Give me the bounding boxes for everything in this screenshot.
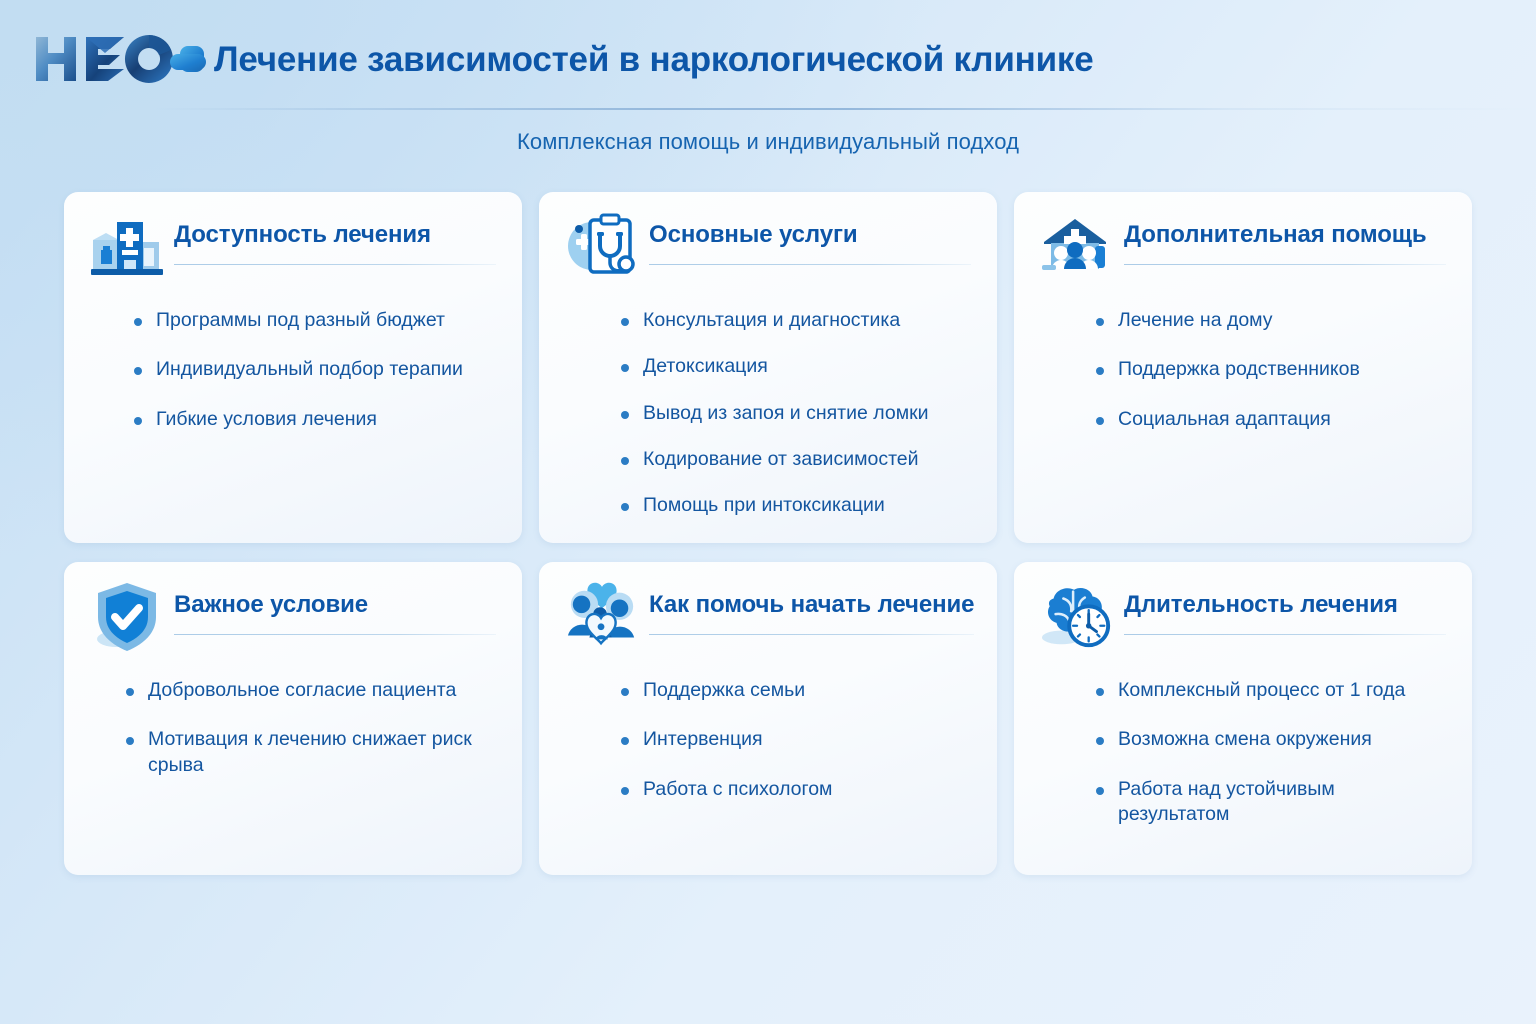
title-underline (174, 264, 496, 265)
list-item: Комплексный процесс от 1 года (1096, 678, 1446, 703)
card-extra-help[interactable]: Дополнительная помощь Лечение на дому По… (1014, 192, 1472, 543)
card-header: Основные услуги (565, 214, 971, 288)
list-item: Гибкие условия лечения (134, 407, 496, 432)
list-item: Консультация и диагностика (621, 308, 971, 333)
list-item: Программы под разный бюджет (134, 308, 496, 333)
card-title: Доступность лечения (174, 222, 496, 248)
card-title: Дополнительная помощь (1124, 222, 1446, 248)
list-item: Добровольное согласие пациента (126, 678, 496, 703)
list-item: Детоксикация (621, 354, 971, 379)
list-item: Интервенция (621, 727, 971, 752)
list-item: Социальная адаптация (1096, 407, 1446, 432)
bullet-list: Лечение на дому Поддержка родственников … (1040, 308, 1446, 432)
title-underline (174, 634, 496, 635)
card-title: Основные услуги (649, 222, 971, 248)
card-header: Важное условие (90, 584, 496, 658)
card-important-condition[interactable]: Важное условие Добровольное согласие пац… (64, 562, 522, 875)
title-underline (649, 634, 974, 635)
cards-grid: Доступность лечения Программы под разный… (64, 192, 1472, 875)
card-header: Дополнительная помощь (1040, 214, 1446, 288)
home-care-icon (1040, 210, 1114, 284)
card-duration[interactable]: Длительность лечения Комплексный процесс… (1014, 562, 1472, 875)
neo-plus-logo (34, 33, 206, 85)
card-how-to-start[interactable]: Как помочь начать лечение Поддержка семь… (539, 562, 997, 875)
list-item: Работа с психологом (621, 777, 971, 802)
page-subtitle: Комплексная помощь и индивидуальный подх… (0, 129, 1536, 155)
list-item: Работа над устойчивым результатом (1096, 777, 1446, 828)
bullet-list: Консультация и диагностика Детоксикация … (565, 308, 971, 519)
card-title: Важное условие (174, 592, 496, 618)
list-item: Помощь при интоксикации (621, 493, 971, 518)
list-item: Вывод из запоя и снятие ломки (621, 401, 971, 426)
cards-row-1: Доступность лечения Программы под разный… (64, 192, 1472, 543)
card-title: Как помочь начать лечение (649, 592, 974, 618)
page-header: Лечение зависимостей в наркологической к… (0, 0, 1536, 110)
title-underline (1124, 264, 1446, 265)
list-item: Мотивация к лечению снижает риск срыва (126, 727, 496, 778)
list-item: Индивидуальный подбор терапии (134, 357, 496, 382)
list-item: Лечение на дому (1096, 308, 1446, 333)
hospital-icon (90, 210, 164, 284)
shield-check-icon (90, 580, 164, 654)
bullet-list: Поддержка семьи Интервенция Работа с пси… (565, 678, 971, 802)
list-item: Кодирование от зависимостей (621, 447, 971, 472)
infographic-page: Лечение зависимостей в наркологической к… (0, 0, 1536, 1024)
card-header: Доступность лечения (90, 214, 496, 288)
card-header: Как помочь начать лечение (565, 584, 971, 658)
family-heart-icon (565, 580, 639, 654)
clipboard-stethoscope-icon (565, 210, 639, 284)
list-item: Возможна смена окружения (1096, 727, 1446, 752)
card-services[interactable]: Основные услуги Консультация и диагности… (539, 192, 997, 543)
bullet-list: Программы под разный бюджет Индивидуальн… (90, 308, 496, 432)
header-divider (0, 108, 1536, 110)
list-item: Поддержка родственников (1096, 357, 1446, 382)
title-underline (1124, 634, 1446, 635)
card-header: Длительность лечения (1040, 584, 1446, 658)
bullet-list: Комплексный процесс от 1 года Возможна с… (1040, 678, 1446, 827)
title-underline (649, 264, 971, 265)
list-item: Поддержка семьи (621, 678, 971, 703)
card-title: Длительность лечения (1124, 592, 1446, 618)
page-title: Лечение зависимостей в наркологической к… (214, 40, 1094, 80)
card-access[interactable]: Доступность лечения Программы под разный… (64, 192, 522, 543)
bullet-list: Добровольное согласие пациента Мотивация… (90, 678, 496, 778)
cards-row-2: Важное условие Добровольное согласие пац… (64, 562, 1472, 875)
brain-clock-icon (1040, 580, 1114, 654)
